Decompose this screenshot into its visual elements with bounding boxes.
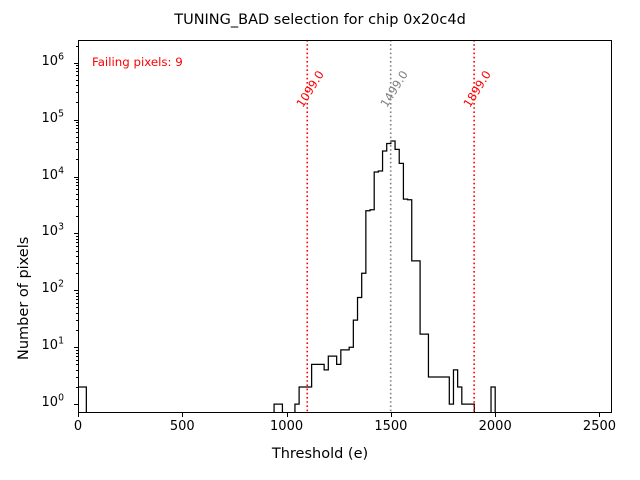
x-tick-label: 500 [170,419,195,434]
axes-frame [78,40,612,413]
figure-canvas: TUNING_BAD selection for chip 0x20c4d Nu… [0,0,640,480]
x-tick-major [391,413,392,417]
x-axis-label: Threshold (e) [0,446,640,462]
x-tick-major [182,413,183,417]
x-tick-label: 1000 [270,419,303,434]
x-tick-major [78,413,79,417]
x-tick-major [599,413,600,417]
x-tick-label: 2500 [583,419,616,434]
x-tick-major [287,413,288,417]
y-axis-label: Number of pixels [16,237,32,360]
x-tick-label: 0 [74,419,82,434]
x-tick-label: 2000 [479,419,512,434]
y-tick-label: 102 [42,282,64,295]
x-tick-label: 1500 [374,419,407,434]
x-tick-major [495,413,496,417]
failing-pixels-annotation: Failing pixels: 9 [92,55,183,69]
y-tick-label: 106 [42,55,64,68]
y-tick-label: 101 [42,339,64,352]
y-tick-label: 100 [42,396,64,409]
y-tick-label: 104 [42,169,64,182]
y-tick-label: 103 [42,225,64,238]
y-tick-label: 105 [42,112,64,125]
chart-title: TUNING_BAD selection for chip 0x20c4d [0,12,640,28]
